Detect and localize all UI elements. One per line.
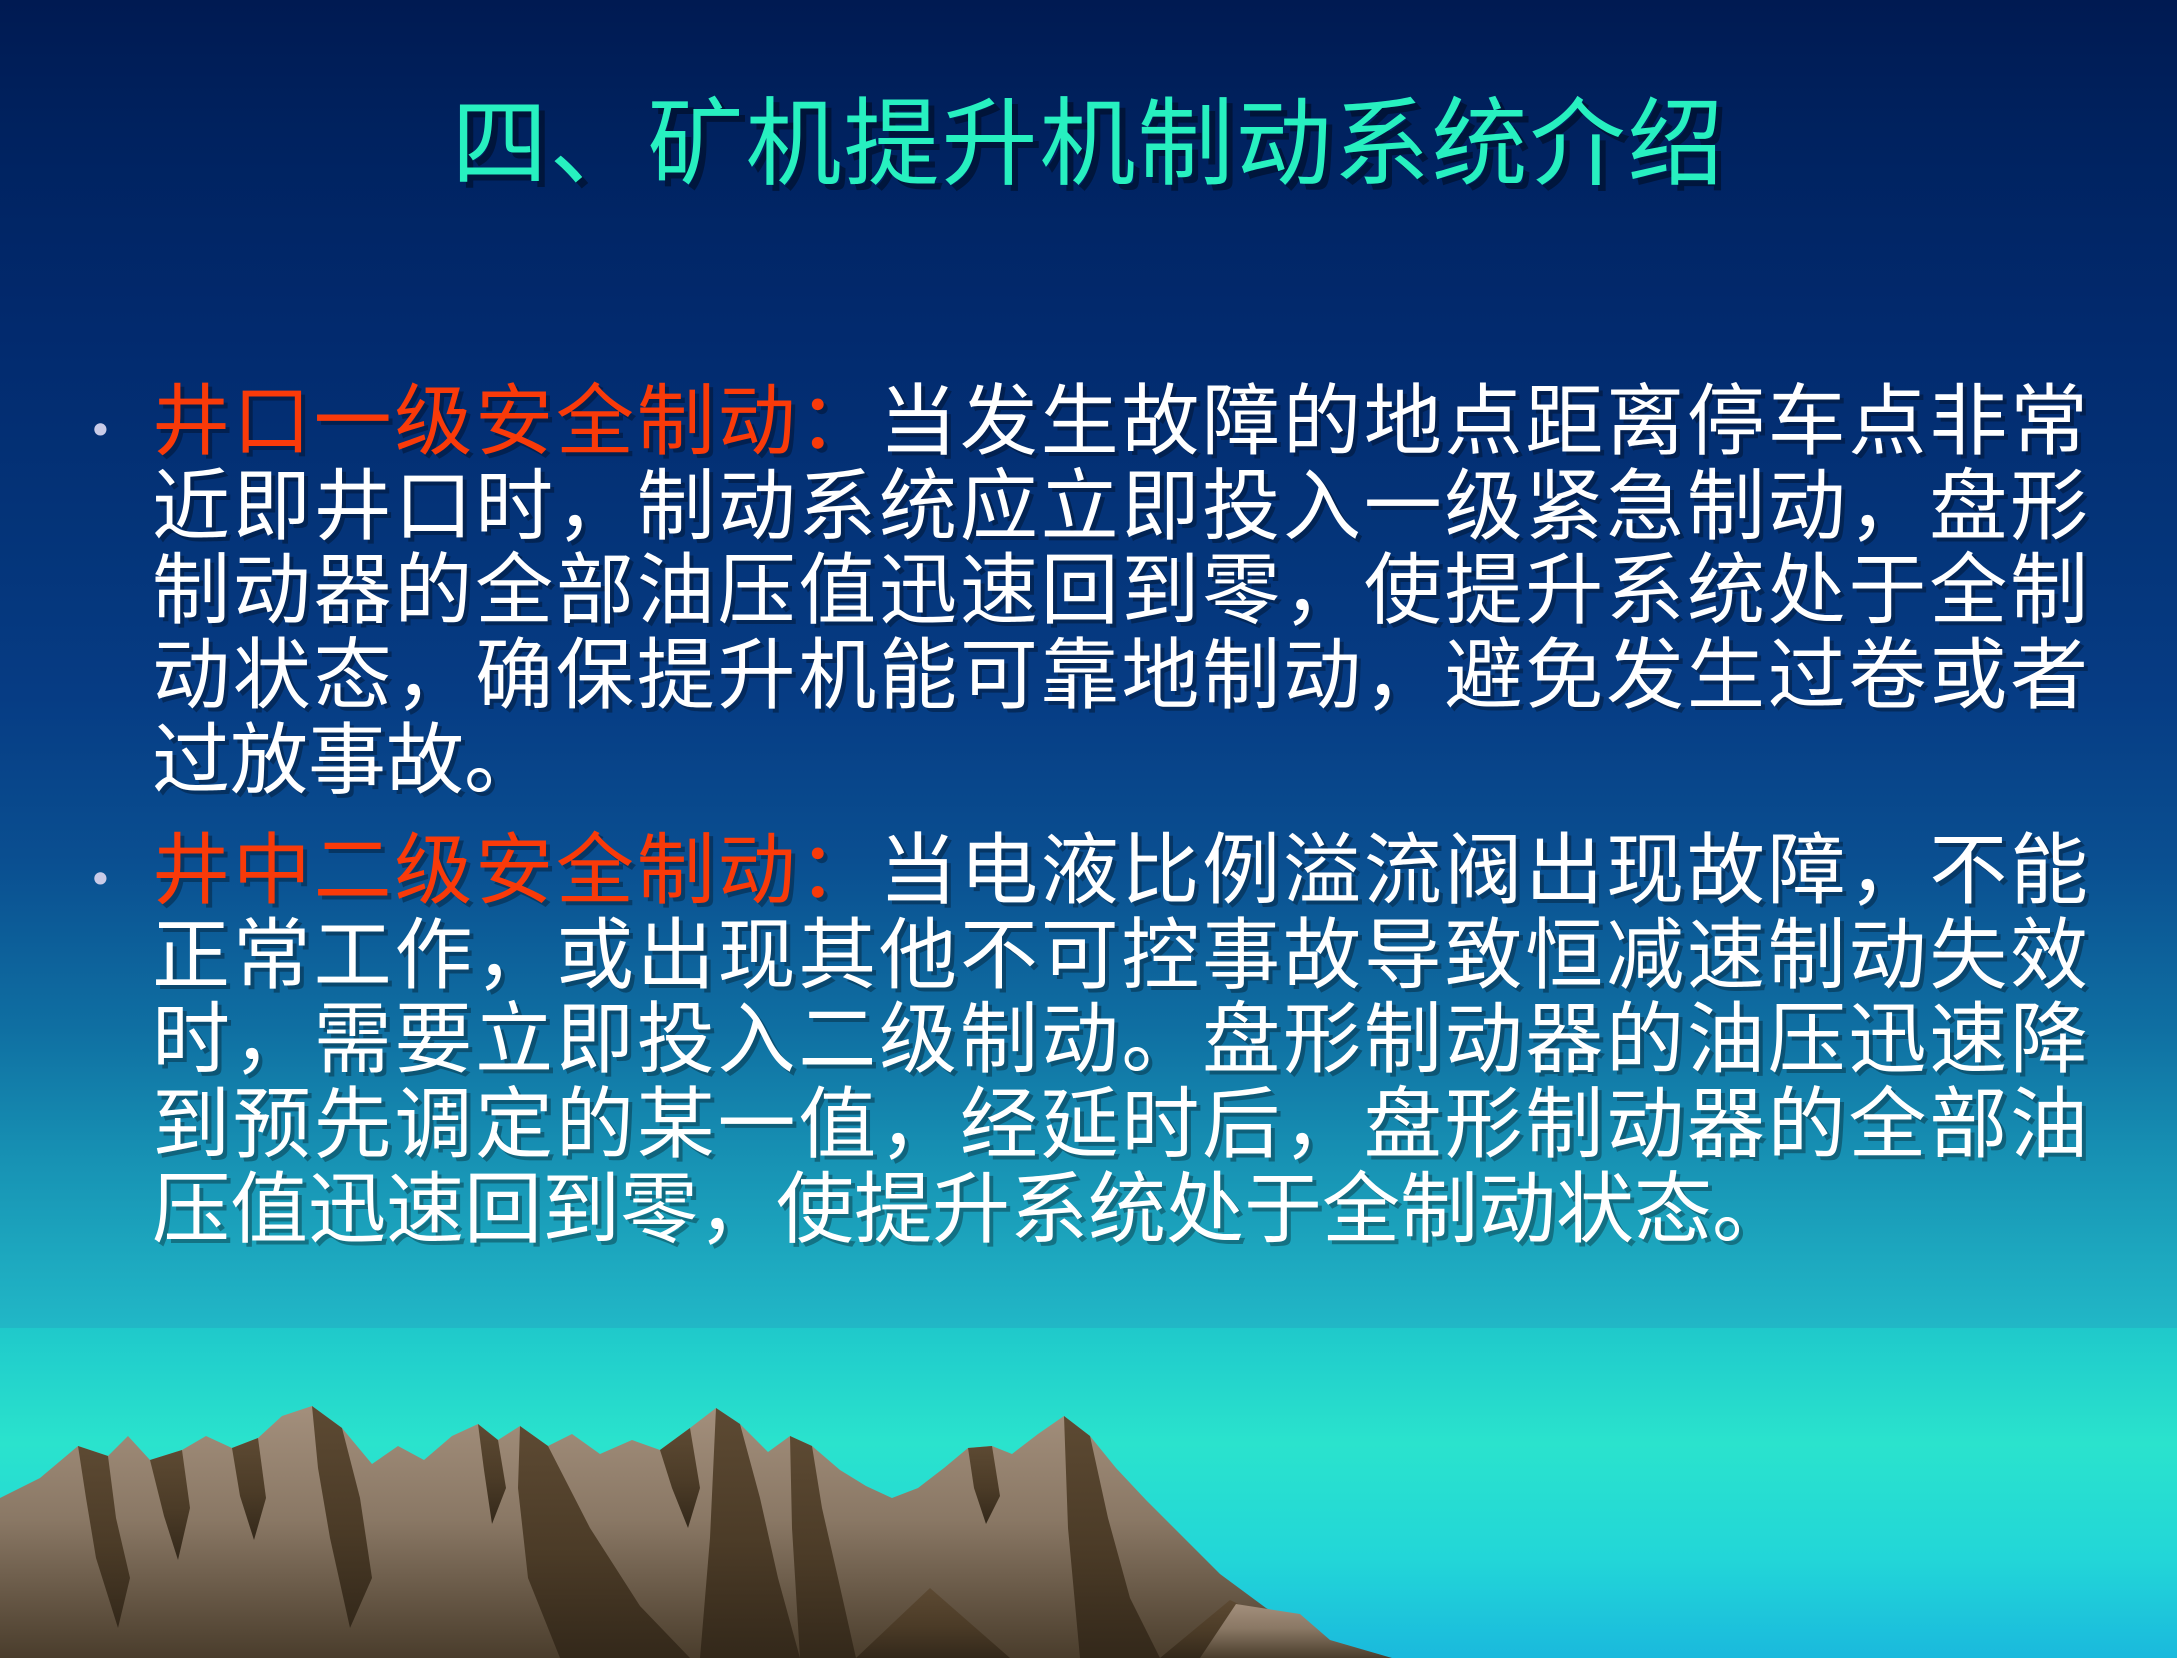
list-item: • 井口一级安全制动：当发生故障的地点距离停车点非常近即井口时，制动系统应立即投… [88,380,2088,803]
bullet-text-block: 井口一级安全制动：当发生故障的地点距离停车点非常近即井口时，制动系统应立即投入一… [152,380,2088,803]
bullet-glyph-icon: • [88,380,152,452]
slide-title: 四、矿机提升机制动系统介绍 [0,96,2177,192]
slide-canvas: 四、矿机提升机制动系统介绍 • 井口一级安全制动：当发生故障的地点距离停车点非常… [0,0,2177,1658]
bullet-lead-label: 井中二级安全制动： [152,826,879,916]
bullet-text-block: 井中二级安全制动：当电液比例溢流阀出现故障，不能正常工作，或出现其他不可控事故导… [152,829,2088,1252]
slide-body: • 井口一级安全制动：当发生故障的地点距离停车点非常近即井口时，制动系统应立即投… [88,380,2088,1278]
bullet-glyph-icon: • [88,829,152,901]
mountain-range-graphic [0,1328,2177,1658]
bullet-lead-label: 井口一级安全制动： [152,377,879,467]
list-item: • 井中二级安全制动：当电液比例溢流阀出现故障，不能正常工作，或出现其他不可控事… [88,829,2088,1252]
